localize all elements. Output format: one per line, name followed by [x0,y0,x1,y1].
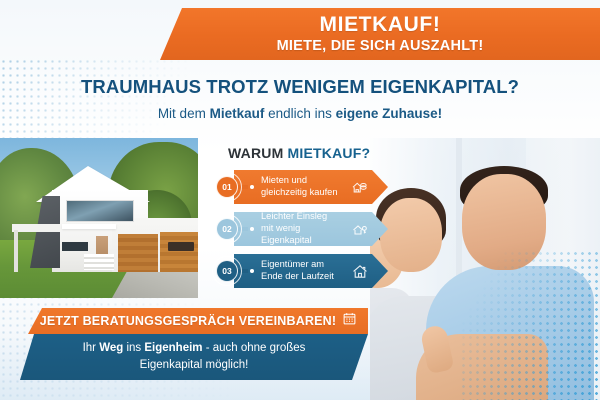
benefits-title-word-mietkauf: MIETKAUF? [288,145,371,161]
benefit-text-01-line2: gleichzeitig kaufen [261,187,338,197]
top-banner-subtitle: MIETE, DIE SICH AUSZAHLT! [277,38,484,55]
house-outline-icon [352,264,368,279]
house-photo-garage-door-right [160,232,198,272]
family-thumbs-up-photo [370,138,600,400]
cta-button-label: JETZT BERATUNGSGESPRÄCH VEREINBAREN! [40,314,337,328]
benefits-title-word-warum: WARUM [228,145,283,161]
benefit-arrow-body-02: Leichter Einsleg mit wenig Eigenkapital [234,212,388,246]
house-photo-steps [84,254,114,270]
top-banner-title: MIETKAUF! [320,14,441,36]
benefit-text-03: Eigentümer am Ende der Laufzeit [261,259,352,283]
family-photo-halftone-overlay [460,250,600,400]
subtitle-part-2: endlich ins [264,106,335,121]
cta-description-line-2: Eigenkapital möglich! [140,357,249,374]
house-photo-balcony [62,224,116,229]
benefit-arrow-body-03: Eigentümer am Ende der Laufzeit [234,254,388,288]
house-photo-upper-window [66,200,134,222]
page-title: TRAUMHAUS TROTZ WENIGEM EIGENKAPITAL? [0,76,600,98]
benefits-section-title: WARUM MIETKAUF? [228,145,370,161]
cta-desc-bold-eigenheim: Eigenheim [144,342,202,354]
house-money-icon [351,180,368,194]
house-photo-lower-window [62,242,88,251]
benefit-badge-03: 03 [212,256,242,286]
subtitle-part-1: Mit dem [158,106,210,121]
benefit-text-02-line1: Leichter Einsleg [261,211,327,221]
house-photo-garage-window [168,242,194,251]
benefit-item-01: Mieten und gleichzeitig kaufen 01 [212,170,388,204]
benefit-badge-01: 01 [212,172,242,202]
page-subtitle: Mit dem Mietkauf endlich ins eigene Zuha… [0,106,600,121]
benefit-item-03: Eigentümer am Ende der Laufzeit 03 [212,254,388,288]
family-photo-woman-head [380,198,442,272]
benefit-item-02: Leichter Einsleg mit wenig Eigenkapital … [212,212,388,246]
modern-house-photo [0,138,198,298]
bullet-dot-icon [250,185,254,189]
benefit-arrow-body-01: Mieten und gleichzeitig kaufen [234,170,388,204]
house-photo-carport-post [14,230,18,272]
house-key-icon [351,222,368,236]
bullet-dot-icon [250,227,254,231]
benefit-text-03-line2: Ende der Laufzeit [261,271,334,281]
calendar-icon [343,312,356,330]
badge-number-03: 03 [216,260,238,282]
house-photo-carport-roof [12,224,60,232]
cta-desc-part-2: ins [123,342,144,354]
house-photo-garage-door-left [118,234,158,272]
badge-number-01: 01 [216,176,238,198]
benefit-text-03-line1: Eigentümer am [261,259,324,269]
cta-desc-bold-weg: Weg [99,342,123,354]
cta-button[interactable]: JETZT BERATUNGSGESPRÄCH VEREINBAREN! [28,308,368,334]
headline-block: TRAUMHAUS TROTZ WENIGEM EIGENKAPITAL? Mi… [0,76,600,121]
benefit-text-01: Mieten und gleichzeitig kaufen [261,175,351,199]
cta-description-line-1: Ihr Weg ins Eigenheim - auch ohne großes [83,340,306,357]
cta-desc-part-3: - auch ohne großes [203,342,306,354]
top-headline-banner: MIETKAUF! MIETE, DIE SICH AUSZAHLT! [160,8,600,60]
benefit-text-02-line2: mit wenig Eigenkapital [261,223,312,245]
badge-number-02: 02 [216,218,238,240]
mietkauf-advertisement-banner: MIETKAUF! MIETE, DIE SICH AUSZAHLT! TRAU… [0,0,600,400]
cta-desc-part-1: Ihr [83,342,100,354]
benefit-text-02: Leichter Einsleg mit wenig Eigenkapital [261,211,351,247]
subtitle-bold-zuhause: eigene Zuhause! [336,106,443,121]
subtitle-bold-mietkauf: Mietkauf [210,106,265,121]
bullet-dot-icon [250,269,254,273]
benefit-badge-02: 02 [212,214,242,244]
cta-description-panel: Ihr Weg ins Eigenheim - auch ohne großes… [20,334,368,380]
benefit-text-01-line1: Mieten und [261,175,307,185]
